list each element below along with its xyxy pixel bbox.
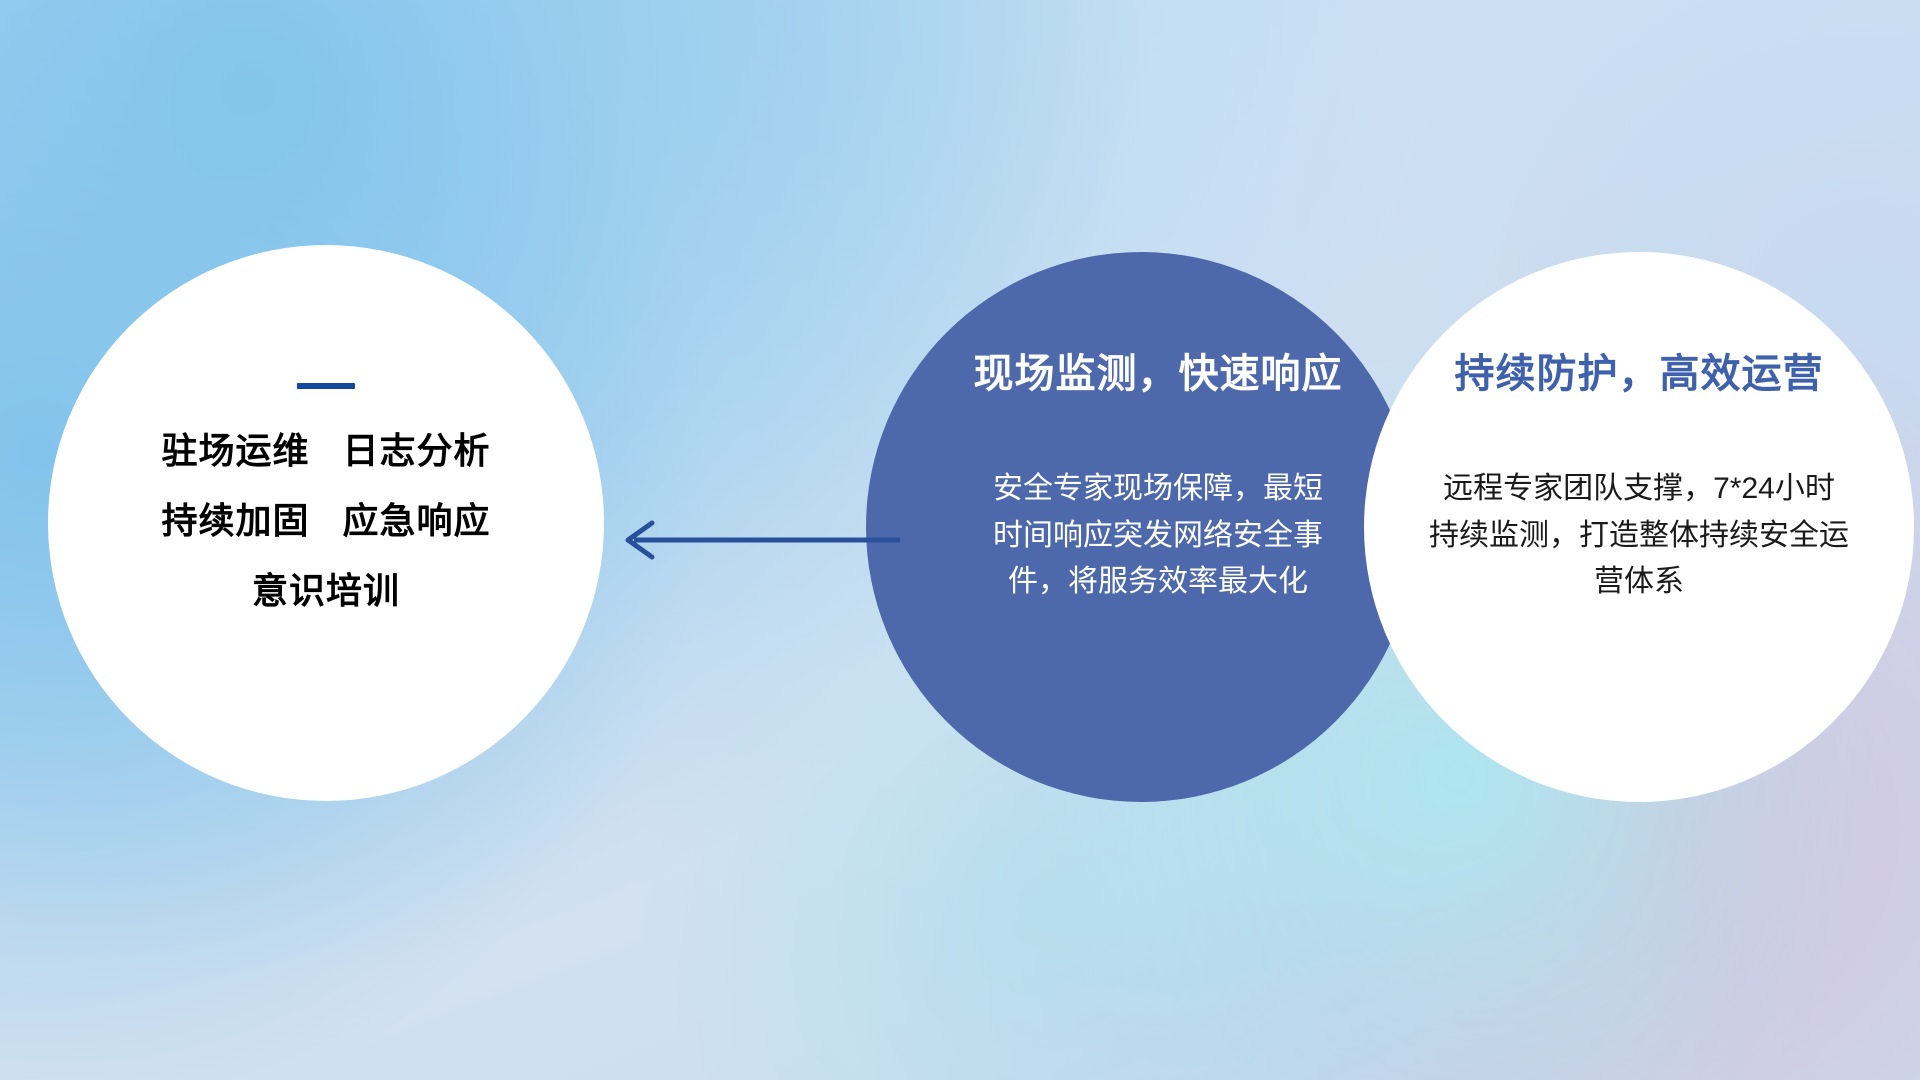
capability-line-3: 意识培训: [252, 573, 400, 609]
onsite-monitoring-circle-shape: [866, 252, 1416, 802]
capability-line-2: 持续加固 应急响应: [161, 503, 490, 539]
left-pointing-arrow: [612, 510, 902, 570]
arrow-icon: [612, 510, 902, 570]
accent-dash-divider: [297, 383, 355, 389]
service-capabilities-content: 驻场运维 日志分析 持续加固 应急响应 意识培训: [48, 245, 604, 801]
continuous-protection-circle-shape: [1364, 252, 1914, 802]
slide-canvas: 驻场运维 日志分析 持续加固 应急响应 意识培训 现场监测，快速响应 安全专家现…: [0, 0, 1920, 1080]
capability-line-1: 驻场运维 日志分析: [161, 433, 490, 469]
